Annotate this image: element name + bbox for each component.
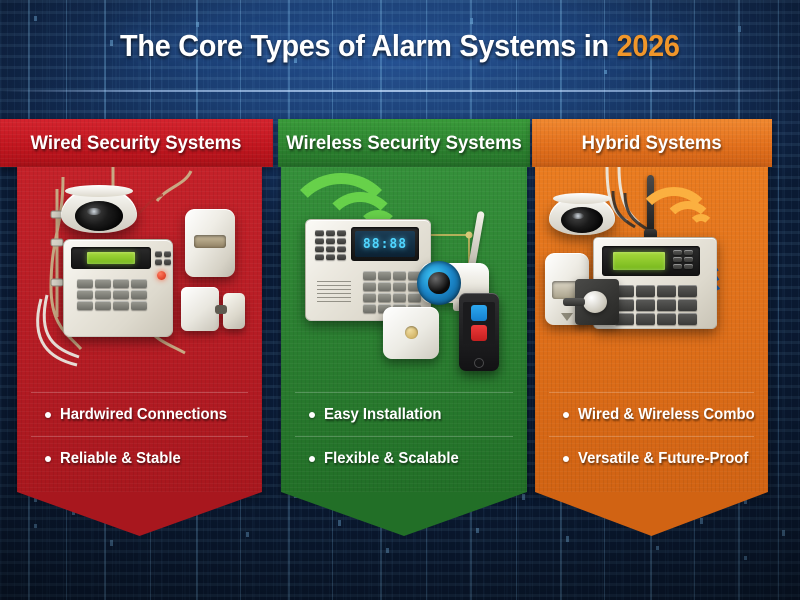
wireless-alarm-panel-icon: 88:88 bbox=[305, 219, 431, 321]
function-key[interactable] bbox=[337, 238, 346, 244]
keypad-key[interactable] bbox=[657, 285, 676, 297]
keypad-key[interactable] bbox=[393, 271, 406, 280]
door-contact-sensor-link bbox=[215, 305, 227, 314]
wireless-panel-speaker-icon bbox=[317, 281, 351, 303]
keypad-key[interactable] bbox=[95, 290, 111, 299]
keypad-key[interactable] bbox=[657, 313, 676, 325]
panel-hybrid-body: Wired & Wireless Combo Versatile & Futur… bbox=[535, 167, 768, 492]
title-bar: The Core Types of Alarm Systems in 2026 bbox=[0, 0, 800, 92]
keypad-key[interactable] bbox=[363, 293, 376, 302]
keypad-key[interactable] bbox=[393, 293, 406, 302]
hybrid-panel-lcd-green bbox=[613, 252, 665, 270]
function-key[interactable] bbox=[326, 254, 335, 260]
function-key[interactable] bbox=[337, 246, 346, 252]
function-key[interactable] bbox=[315, 246, 324, 252]
bullet-item: Hardwired Connections bbox=[31, 392, 248, 436]
keypad-key[interactable] bbox=[657, 299, 676, 311]
keypad-key[interactable] bbox=[131, 279, 147, 288]
bullet-label: Versatile & Future-Proof bbox=[578, 450, 748, 468]
mode-key[interactable] bbox=[164, 259, 171, 265]
keypad-key[interactable] bbox=[95, 279, 111, 288]
app-icon-alarm[interactable] bbox=[471, 325, 487, 341]
function-key[interactable] bbox=[337, 254, 346, 260]
keypad-key[interactable] bbox=[378, 271, 391, 280]
mode-key[interactable] bbox=[684, 264, 693, 269]
panel-hybrid-ribbon-point bbox=[535, 492, 768, 536]
page-title-main: The Core Types of Alarm Systems in bbox=[120, 28, 617, 63]
title-divider-rule bbox=[0, 90, 800, 92]
wireless-sensor-icon bbox=[383, 307, 439, 359]
panel-wired-ribbon-point bbox=[17, 492, 262, 536]
wireless-panel-lcd-blue: 88:88 bbox=[355, 231, 415, 257]
wireless-sensor-indicator bbox=[405, 326, 418, 339]
bullet-dot-icon bbox=[563, 456, 569, 462]
wifi-signal-orange-icon bbox=[677, 183, 751, 227]
page-title-year: 2026 bbox=[617, 28, 680, 63]
smartphone-screen[interactable] bbox=[463, 302, 495, 344]
keypad-key[interactable] bbox=[113, 279, 129, 288]
dome-camera-lens bbox=[561, 207, 603, 233]
panel-wireless-body: 88:88 bbox=[281, 167, 527, 492]
keypad-key[interactable] bbox=[363, 282, 376, 291]
panel-hybrid-header-label: Hybrid Systems bbox=[582, 132, 722, 155]
smartphone-home-button[interactable] bbox=[474, 358, 484, 368]
page-title: The Core Types of Alarm Systems in 2026 bbox=[120, 28, 680, 64]
keypad-key[interactable] bbox=[77, 301, 93, 310]
keypad-key[interactable] bbox=[131, 301, 147, 310]
door-lock-knob bbox=[583, 291, 607, 313]
mode-key[interactable] bbox=[684, 257, 693, 262]
bullet-dot-icon bbox=[309, 412, 315, 418]
bullet-item: Reliable & Stable bbox=[31, 436, 248, 480]
motion-sensor-led bbox=[561, 313, 573, 321]
panel-wireless-header-label: Wireless Security Systems bbox=[286, 132, 522, 155]
panel-wireless-header: Wireless Security Systems bbox=[278, 119, 530, 167]
keypad-key[interactable] bbox=[131, 290, 147, 299]
motion-sensor-icon bbox=[185, 209, 235, 277]
keypad-key[interactable] bbox=[113, 290, 129, 299]
alarm-keypad-panel-icon bbox=[63, 239, 173, 337]
keypad-key[interactable] bbox=[678, 299, 697, 311]
panel-wireless-artwork: 88:88 bbox=[281, 167, 527, 397]
function-key[interactable] bbox=[315, 254, 324, 260]
mode-key[interactable] bbox=[684, 250, 693, 255]
keypad-key[interactable] bbox=[363, 304, 376, 313]
panel-hybrid-header: Hybrid Systems bbox=[532, 119, 772, 167]
bullet-dot-icon bbox=[563, 412, 569, 418]
keypad-key[interactable] bbox=[77, 290, 93, 299]
alarm-panel-status-led bbox=[157, 271, 166, 280]
panel-wireless-bullets: Easy Installation Flexible & Scalable bbox=[281, 392, 527, 492]
keypad-key[interactable] bbox=[378, 282, 391, 291]
mode-key[interactable] bbox=[673, 257, 682, 262]
panel-wired-bullets: Hardwired Connections Reliable & Stable bbox=[17, 392, 262, 492]
function-key[interactable] bbox=[326, 246, 335, 252]
dome-camera-base bbox=[65, 185, 133, 197]
keypad-key[interactable] bbox=[678, 313, 697, 325]
keypad-key[interactable] bbox=[95, 301, 111, 310]
wireless-panel-lcd-text: 88:88 bbox=[363, 237, 407, 252]
panel-wired-body: Hardwired Connections Reliable & Stable bbox=[17, 167, 262, 492]
keypad-key[interactable] bbox=[636, 299, 655, 311]
keypad-key[interactable] bbox=[393, 282, 406, 291]
keypad-key[interactable] bbox=[378, 293, 391, 302]
door-lock-shaft bbox=[563, 298, 585, 306]
bullet-item: Easy Installation bbox=[295, 392, 513, 436]
panel-wired-artwork bbox=[17, 167, 262, 397]
bullet-item: Versatile & Future-Proof bbox=[549, 436, 754, 480]
function-key[interactable] bbox=[326, 230, 335, 236]
bullet-dot-icon bbox=[45, 412, 51, 418]
function-key[interactable] bbox=[315, 238, 324, 244]
panel-hybrid-bullets: Wired & Wireless Combo Versatile & Futur… bbox=[535, 392, 768, 492]
keypad-key[interactable] bbox=[408, 293, 421, 302]
door-contact-sensor-icon bbox=[181, 287, 219, 331]
dome-camera-lens bbox=[75, 201, 123, 231]
keypad-key[interactable] bbox=[363, 271, 376, 280]
keypad-key[interactable] bbox=[113, 301, 129, 310]
wireless-panel-function-keys[interactable] bbox=[315, 230, 346, 260]
dome-camera-base bbox=[553, 193, 611, 204]
alarm-panel-mode-keys[interactable] bbox=[155, 251, 171, 265]
mode-key[interactable] bbox=[155, 259, 162, 265]
bullet-label: Easy Installation bbox=[324, 406, 441, 424]
bullet-item: Flexible & Scalable bbox=[295, 436, 513, 480]
bullet-dot-icon bbox=[309, 456, 315, 462]
keypad-key[interactable] bbox=[636, 285, 655, 297]
panel-wired-header: Wired Security Systems bbox=[0, 119, 273, 167]
smartphone-app-icon[interactable] bbox=[459, 293, 499, 371]
bullet-label: Flexible & Scalable bbox=[324, 450, 459, 468]
alarm-panel-lcd-green bbox=[87, 252, 135, 264]
bullet-label: Wired & Wireless Combo bbox=[578, 406, 755, 424]
hybrid-panel-keypad[interactable] bbox=[615, 285, 697, 325]
alarm-panel-keypad[interactable] bbox=[77, 279, 147, 310]
motion-sensor-lens bbox=[194, 235, 226, 248]
bullet-label: Reliable & Stable bbox=[60, 450, 181, 468]
mode-key[interactable] bbox=[164, 251, 171, 257]
keypad-key[interactable] bbox=[636, 313, 655, 325]
panel-wireless-ribbon-point bbox=[281, 492, 527, 536]
hybrid-panel-mode-keys[interactable] bbox=[673, 250, 693, 269]
keypad-key[interactable] bbox=[678, 285, 697, 297]
mode-key[interactable] bbox=[155, 251, 162, 257]
app-icon-camera[interactable] bbox=[471, 305, 487, 321]
mode-key[interactable] bbox=[673, 250, 682, 255]
panel-wired-header-label: Wired Security Systems bbox=[31, 132, 242, 155]
function-key[interactable] bbox=[326, 238, 335, 244]
function-key[interactable] bbox=[337, 230, 346, 236]
function-key[interactable] bbox=[315, 230, 324, 236]
mode-key[interactable] bbox=[673, 264, 682, 269]
bullet-item: Wired & Wireless Combo bbox=[549, 392, 754, 436]
panel-hybrid-artwork bbox=[535, 167, 768, 397]
bullet-label: Hardwired Connections bbox=[60, 406, 227, 424]
keypad-key[interactable] bbox=[77, 279, 93, 288]
bullet-dot-icon bbox=[45, 456, 51, 462]
